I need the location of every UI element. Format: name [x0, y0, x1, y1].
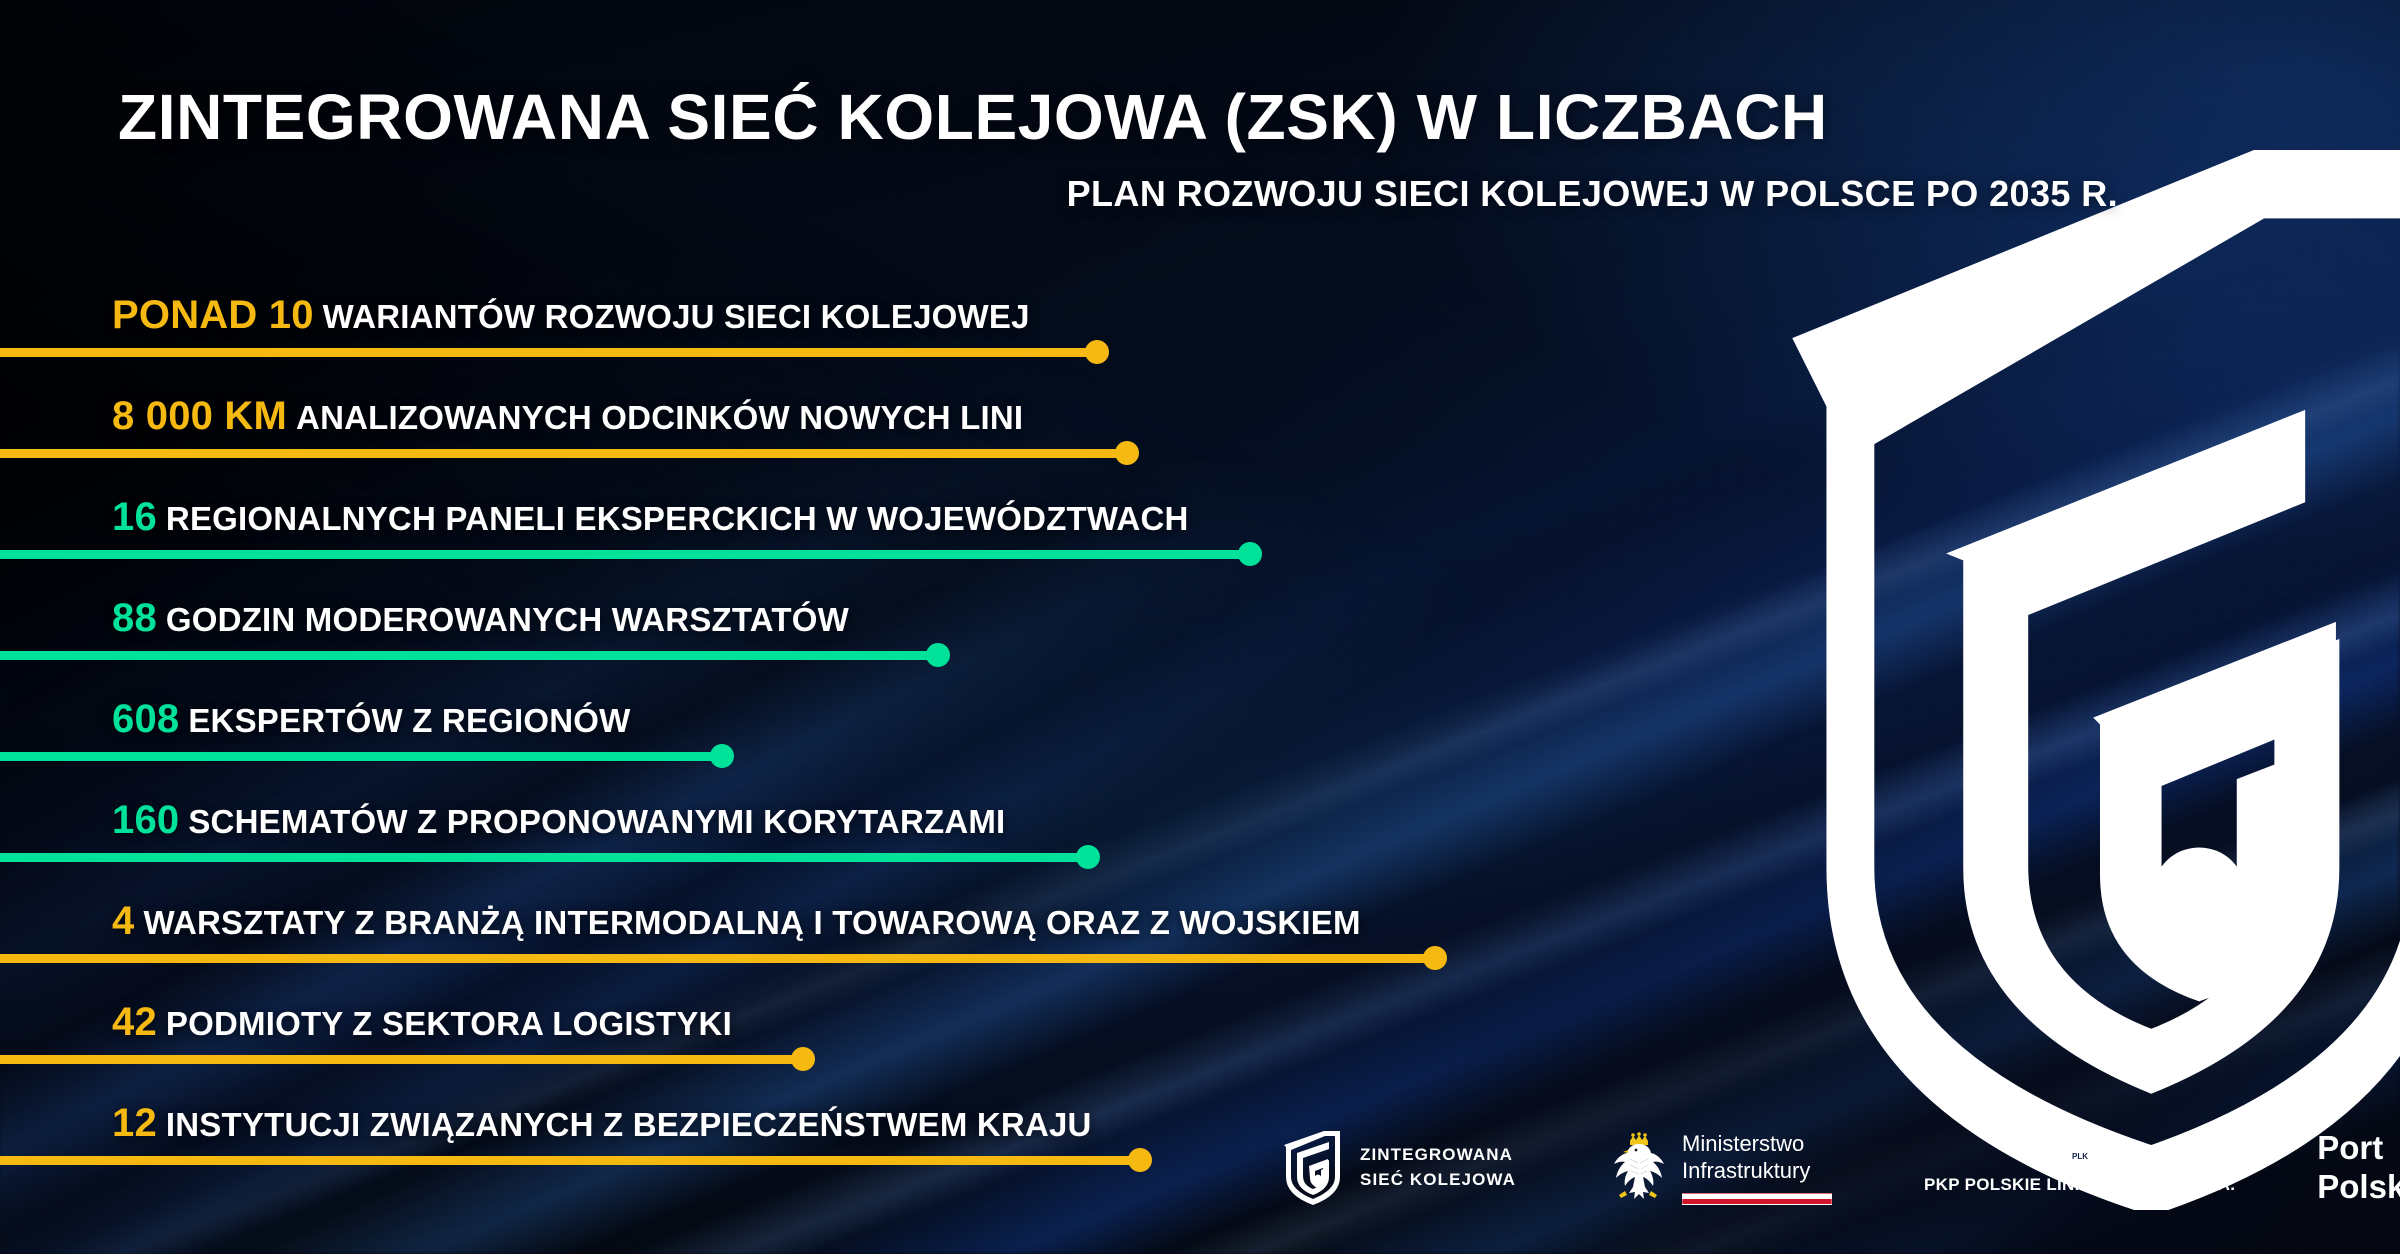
stat-value: 12: [112, 1101, 157, 1145]
stat-value: PONAD 10: [112, 293, 314, 337]
plk-emblem-label: PLK: [2072, 1152, 2088, 1161]
zsk-logo-text: ZINTEGROWANA SIEĆ KOLEJOWA: [1360, 1143, 1516, 1192]
stat-label: 88GODZIN MODEROWANYCH WARSZTATÓW: [112, 598, 849, 638]
stat-label: PONAD 10WARIANTÓW ROZWOJU SIECI KOLEJOWE…: [112, 295, 1030, 335]
stat-text: GODZIN MODEROWANYCH WARSZTATÓW: [166, 601, 849, 638]
stat-bar-endpoint-dot: [1238, 542, 1262, 566]
stat-row: 88GODZIN MODEROWANYCH WARSZTATÓW: [0, 567, 2400, 668]
pkp-winged-wheel-icon: PLK: [2032, 1142, 2128, 1170]
stat-label: 8 000 KMANALIZOWANYCH ODCINKÓW NOWYCH LI…: [112, 396, 1023, 436]
stat-bar: [0, 550, 1250, 559]
stat-bar: [0, 449, 1127, 458]
partner-logos: ZINTEGROWANA SIEĆ KOLEJOWA: [1280, 1108, 2340, 1228]
header: ZINTEGROWANA SIEĆ KOLEJOWA (ZSK) W LICZB…: [118, 84, 2128, 215]
stat-bar-endpoint-dot: [1085, 340, 1109, 364]
stat-label: 42PODMIOTY Z SEKTORA LOGISTYKI: [112, 1002, 732, 1042]
stat-row: 4WARSZTATY Z BRANŻĄ INTERMODALNĄ I TOWAR…: [0, 870, 2400, 971]
zsk-logo-line1: ZINTEGROWANA: [1360, 1143, 1516, 1168]
stat-text: SCHEMATÓW Z PROPONOWANYMI KORYTARZAMI: [188, 803, 1005, 840]
stat-value: 42: [112, 1000, 157, 1044]
stat-value: 8 000 KM: [112, 394, 287, 438]
stat-text: EKSPERTÓW Z REGIONÓW: [188, 702, 630, 739]
stat-text: REGIONALNYCH PANELI EKSPERCKICH W WOJEWÓ…: [166, 500, 1189, 537]
stat-row: 160SCHEMATÓW Z PROPONOWANYMI KORYTARZAMI: [0, 769, 2400, 870]
stat-text: WARIANTÓW ROZWOJU SIECI KOLEJOWEJ: [323, 298, 1030, 335]
stat-bar-endpoint-dot: [710, 744, 734, 768]
stat-bar: [0, 651, 938, 660]
stat-text: PODMIOTY Z SEKTORA LOGISTYKI: [166, 1005, 732, 1042]
stat-row: 42PODMIOTY Z SEKTORA LOGISTYKI: [0, 971, 2400, 1072]
plk-logo-name: PKP POLSKIE LINIE KOLEJOWE S.A.: [1924, 1175, 2235, 1195]
logo-zintegrowana-siec-kolejowa: ZINTEGROWANA SIEĆ KOLEJOWA: [1280, 1129, 1516, 1207]
zsk-shield-icon: [1280, 1129, 1344, 1207]
port-polska-text: Port Polska: [2317, 1129, 2400, 1207]
logo-ministerstwo-infrastruktury: Ministerstwo Infrastruktury: [1608, 1129, 1832, 1207]
stat-bar-endpoint-dot: [791, 1047, 815, 1071]
port-polska-line1: Port: [2317, 1129, 2400, 1168]
stat-bar-endpoint-dot: [1076, 845, 1100, 869]
stat-text: INSTYTUCJI ZWIĄZANYCH Z BEZPIECZEŃSTWEM …: [166, 1106, 1092, 1143]
stat-bar: [0, 853, 1088, 862]
infographic-canvas: ZINTEGROWANA SIEĆ KOLEJOWA (ZSK) W LICZB…: [0, 0, 2400, 1254]
stat-value: 16: [112, 495, 157, 539]
stat-text: WARSZTATY Z BRANŻĄ INTERMODALNĄ I TOWARO…: [143, 904, 1360, 941]
stat-label: 608EKSPERTÓW Z REGIONÓW: [112, 699, 631, 739]
stat-text: ANALIZOWANYCH ODCINKÓW NOWYCH LINI: [296, 399, 1023, 436]
stat-row: 608EKSPERTÓW Z REGIONÓW: [0, 668, 2400, 769]
stat-row: 8 000 KMANALIZOWANYCH ODCINKÓW NOWYCH LI…: [0, 365, 2400, 466]
stat-row: PONAD 10WARIANTÓW ROZWOJU SIECI KOLEJOWE…: [0, 264, 2400, 365]
stat-bar-endpoint-dot: [926, 643, 950, 667]
stat-label: 16REGIONALNYCH PANELI EKSPERCKICH W WOJE…: [112, 497, 1189, 537]
stat-bar: [0, 1156, 1140, 1165]
stat-bar: [0, 348, 1097, 357]
logo-pkp-plk: PLK PKP POLSKIE LINIE KOLEJOWE S.A.: [1924, 1142, 2235, 1195]
ministerstwo-line2: Infrastruktury: [1682, 1158, 1832, 1185]
port-polska-line2: Polska: [2317, 1168, 2400, 1207]
stats-list: PONAD 10WARIANTÓW ROZWOJU SIECI KOLEJOWE…: [0, 264, 2400, 1173]
stat-label: 4WARSZTATY Z BRANŻĄ INTERMODALNĄ I TOWAR…: [112, 901, 1361, 941]
stat-bar: [0, 1055, 803, 1064]
ministerstwo-text: Ministerstwo Infrastruktury: [1682, 1131, 1832, 1206]
page-title: ZINTEGROWANA SIEĆ KOLEJOWA (ZSK) W LICZB…: [118, 84, 2128, 151]
logo-port-polska: Port Polska: [2317, 1129, 2400, 1207]
zsk-logo-line2: SIEĆ KOLEJOWA: [1360, 1168, 1516, 1193]
stat-bar: [0, 954, 1435, 963]
polish-eagle-icon: [1608, 1129, 1668, 1207]
stat-bar: [0, 752, 722, 761]
polish-flag-bar-icon: [1682, 1193, 1832, 1205]
stat-value: 88: [112, 596, 157, 640]
stat-value: 608: [112, 697, 179, 741]
stat-value: 160: [112, 798, 179, 842]
page-subtitle: PLAN ROZWOJU SIECI KOLEJOWEJ W POLSCE PO…: [118, 173, 2128, 215]
ministerstwo-line1: Ministerstwo: [1682, 1131, 1832, 1158]
stat-label: 12INSTYTUCJI ZWIĄZANYCH Z BEZPIECZEŃSTWE…: [112, 1103, 1092, 1143]
stat-label: 160SCHEMATÓW Z PROPONOWANYMI KORYTARZAMI: [112, 800, 1005, 840]
stat-bar-endpoint-dot: [1128, 1148, 1152, 1172]
stat-bar-endpoint-dot: [1423, 946, 1447, 970]
stat-value: 4: [112, 899, 134, 943]
stat-row: 16REGIONALNYCH PANELI EKSPERCKICH W WOJE…: [0, 466, 2400, 567]
stat-bar-endpoint-dot: [1115, 441, 1139, 465]
